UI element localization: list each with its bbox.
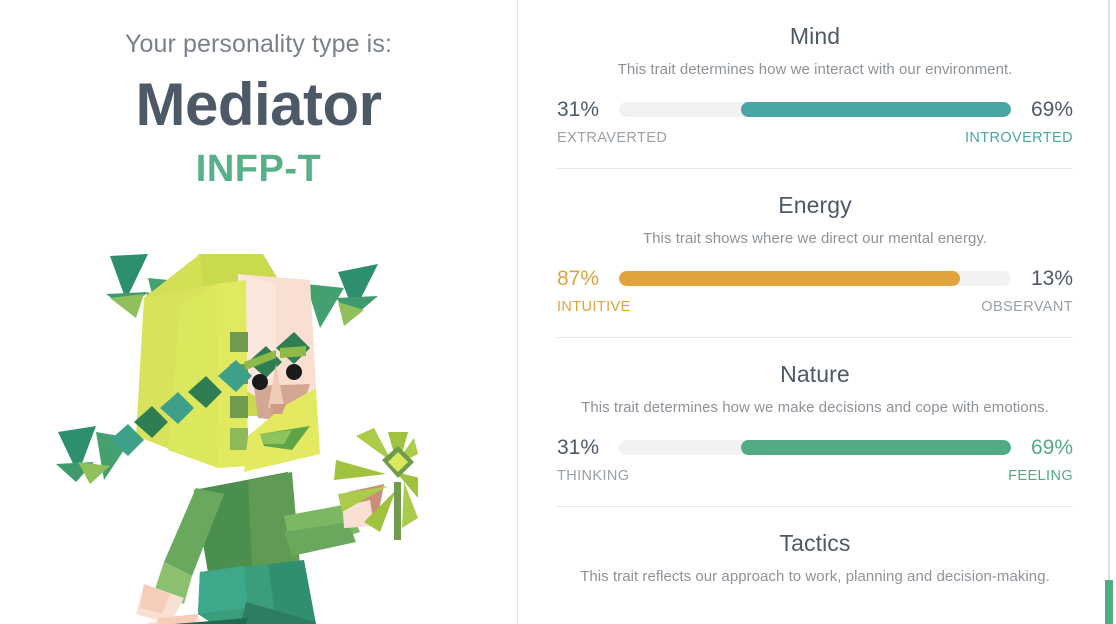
trait-bar-track[interactable]	[619, 271, 1011, 286]
personality-type-name: Mediator	[0, 73, 517, 136]
trait-left-percent: 31%	[557, 437, 617, 458]
trait-bar-row: 31% 69%	[557, 99, 1073, 119]
butterfly-icon	[306, 264, 378, 328]
trait-block-mind: Mind This trait determines how we intera…	[557, 0, 1073, 169]
trait-title: Tactics	[557, 530, 1073, 557]
trait-bar-track[interactable]	[619, 440, 1011, 455]
trait-bar-fill	[741, 440, 1011, 455]
trait-description: This trait reflects our approach to work…	[557, 568, 1073, 585]
trait-right-label: FEELING	[1008, 468, 1073, 484]
trait-title: Mind	[557, 23, 1073, 50]
trait-left-percent: 31%	[557, 99, 617, 120]
trait-title: Nature	[557, 361, 1073, 388]
eye	[252, 374, 268, 390]
trait-block-energy: Energy This trait shows where we direct …	[557, 169, 1073, 338]
trait-left-label: THINKING	[557, 468, 629, 484]
trait-title: Energy	[557, 192, 1073, 219]
scrollbar-track[interactable]	[1108, 0, 1110, 624]
trait-bar-track[interactable]	[619, 102, 1011, 117]
trait-right-label: OBSERVANT	[981, 299, 1073, 315]
trait-right-percent: 69%	[1013, 99, 1073, 120]
trait-labels: THINKING FEELING	[557, 468, 1073, 484]
trait-bar-row: 87% 13%	[557, 268, 1073, 288]
trait-bar-fill	[619, 271, 960, 286]
eye	[286, 364, 302, 380]
scrollbar-thumb[interactable]	[1105, 580, 1113, 624]
trait-block-tactics: Tactics This trait reflects our approach…	[557, 507, 1073, 585]
trait-description: This trait shows where we direct our men…	[557, 230, 1073, 247]
trait-left-label: INTUITIVE	[557, 299, 631, 315]
trait-labels: INTUITIVE OBSERVANT	[557, 299, 1073, 315]
personality-type-panel: Your personality type is: Mediator INFP-…	[0, 0, 518, 624]
personality-results-page: Your personality type is: Mediator INFP-…	[0, 0, 1116, 624]
intro-line: Your personality type is:	[0, 30, 517, 59]
trait-bar-fill	[741, 102, 1011, 117]
trait-left-label: EXTRAVERTED	[557, 130, 667, 146]
traits-panel: Mind This trait determines how we intera…	[518, 0, 1116, 624]
trait-labels: EXTRAVERTED INTROVERTED	[557, 130, 1073, 146]
trait-block-nature: Nature This trait determines how we make…	[557, 338, 1073, 507]
traits-scroll-area[interactable]: Mind This trait determines how we intera…	[518, 0, 1116, 624]
trait-bar-row: 31% 69%	[557, 437, 1073, 457]
trait-right-label: INTROVERTED	[965, 130, 1073, 146]
mediator-character-illustration	[48, 236, 418, 624]
trait-description: This trait determines how we make decisi…	[557, 399, 1073, 416]
trait-right-percent: 69%	[1013, 437, 1073, 458]
personality-type-code: INFP-T	[0, 148, 517, 191]
trait-description: This trait determines how we interact wi…	[557, 61, 1073, 78]
trait-right-percent: 13%	[1013, 268, 1073, 289]
trait-left-percent: 87%	[557, 268, 617, 289]
